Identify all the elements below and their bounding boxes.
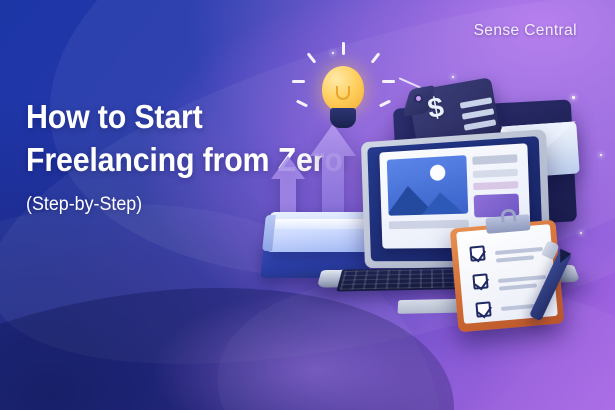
promo-banner: Sense Central How to Start Freelancing f… bbox=[0, 0, 615, 410]
bulb-ray bbox=[296, 100, 308, 108]
checkbox-checked-icon bbox=[475, 301, 491, 317]
bulb-ray bbox=[292, 80, 305, 83]
image-placeholder-icon bbox=[387, 155, 468, 216]
bulb-ray bbox=[371, 52, 381, 63]
screen-text-row bbox=[473, 181, 518, 190]
checkbox-checked-icon bbox=[472, 273, 488, 289]
bulb-ray bbox=[307, 52, 317, 63]
mountain-shape-2 bbox=[419, 191, 466, 215]
clipboard-ring bbox=[500, 208, 516, 222]
lightbulb-base bbox=[330, 108, 356, 128]
sun-shape bbox=[430, 164, 446, 181]
bulb-ray bbox=[342, 42, 345, 55]
bulb-ray bbox=[382, 80, 395, 83]
illustration: $ bbox=[248, 36, 615, 366]
bulb-ray bbox=[379, 100, 391, 108]
checkbox-checked-icon bbox=[469, 245, 485, 261]
screen-text-row bbox=[473, 169, 518, 178]
lightbulb-filament bbox=[336, 86, 350, 100]
screen-text-row bbox=[472, 154, 517, 165]
